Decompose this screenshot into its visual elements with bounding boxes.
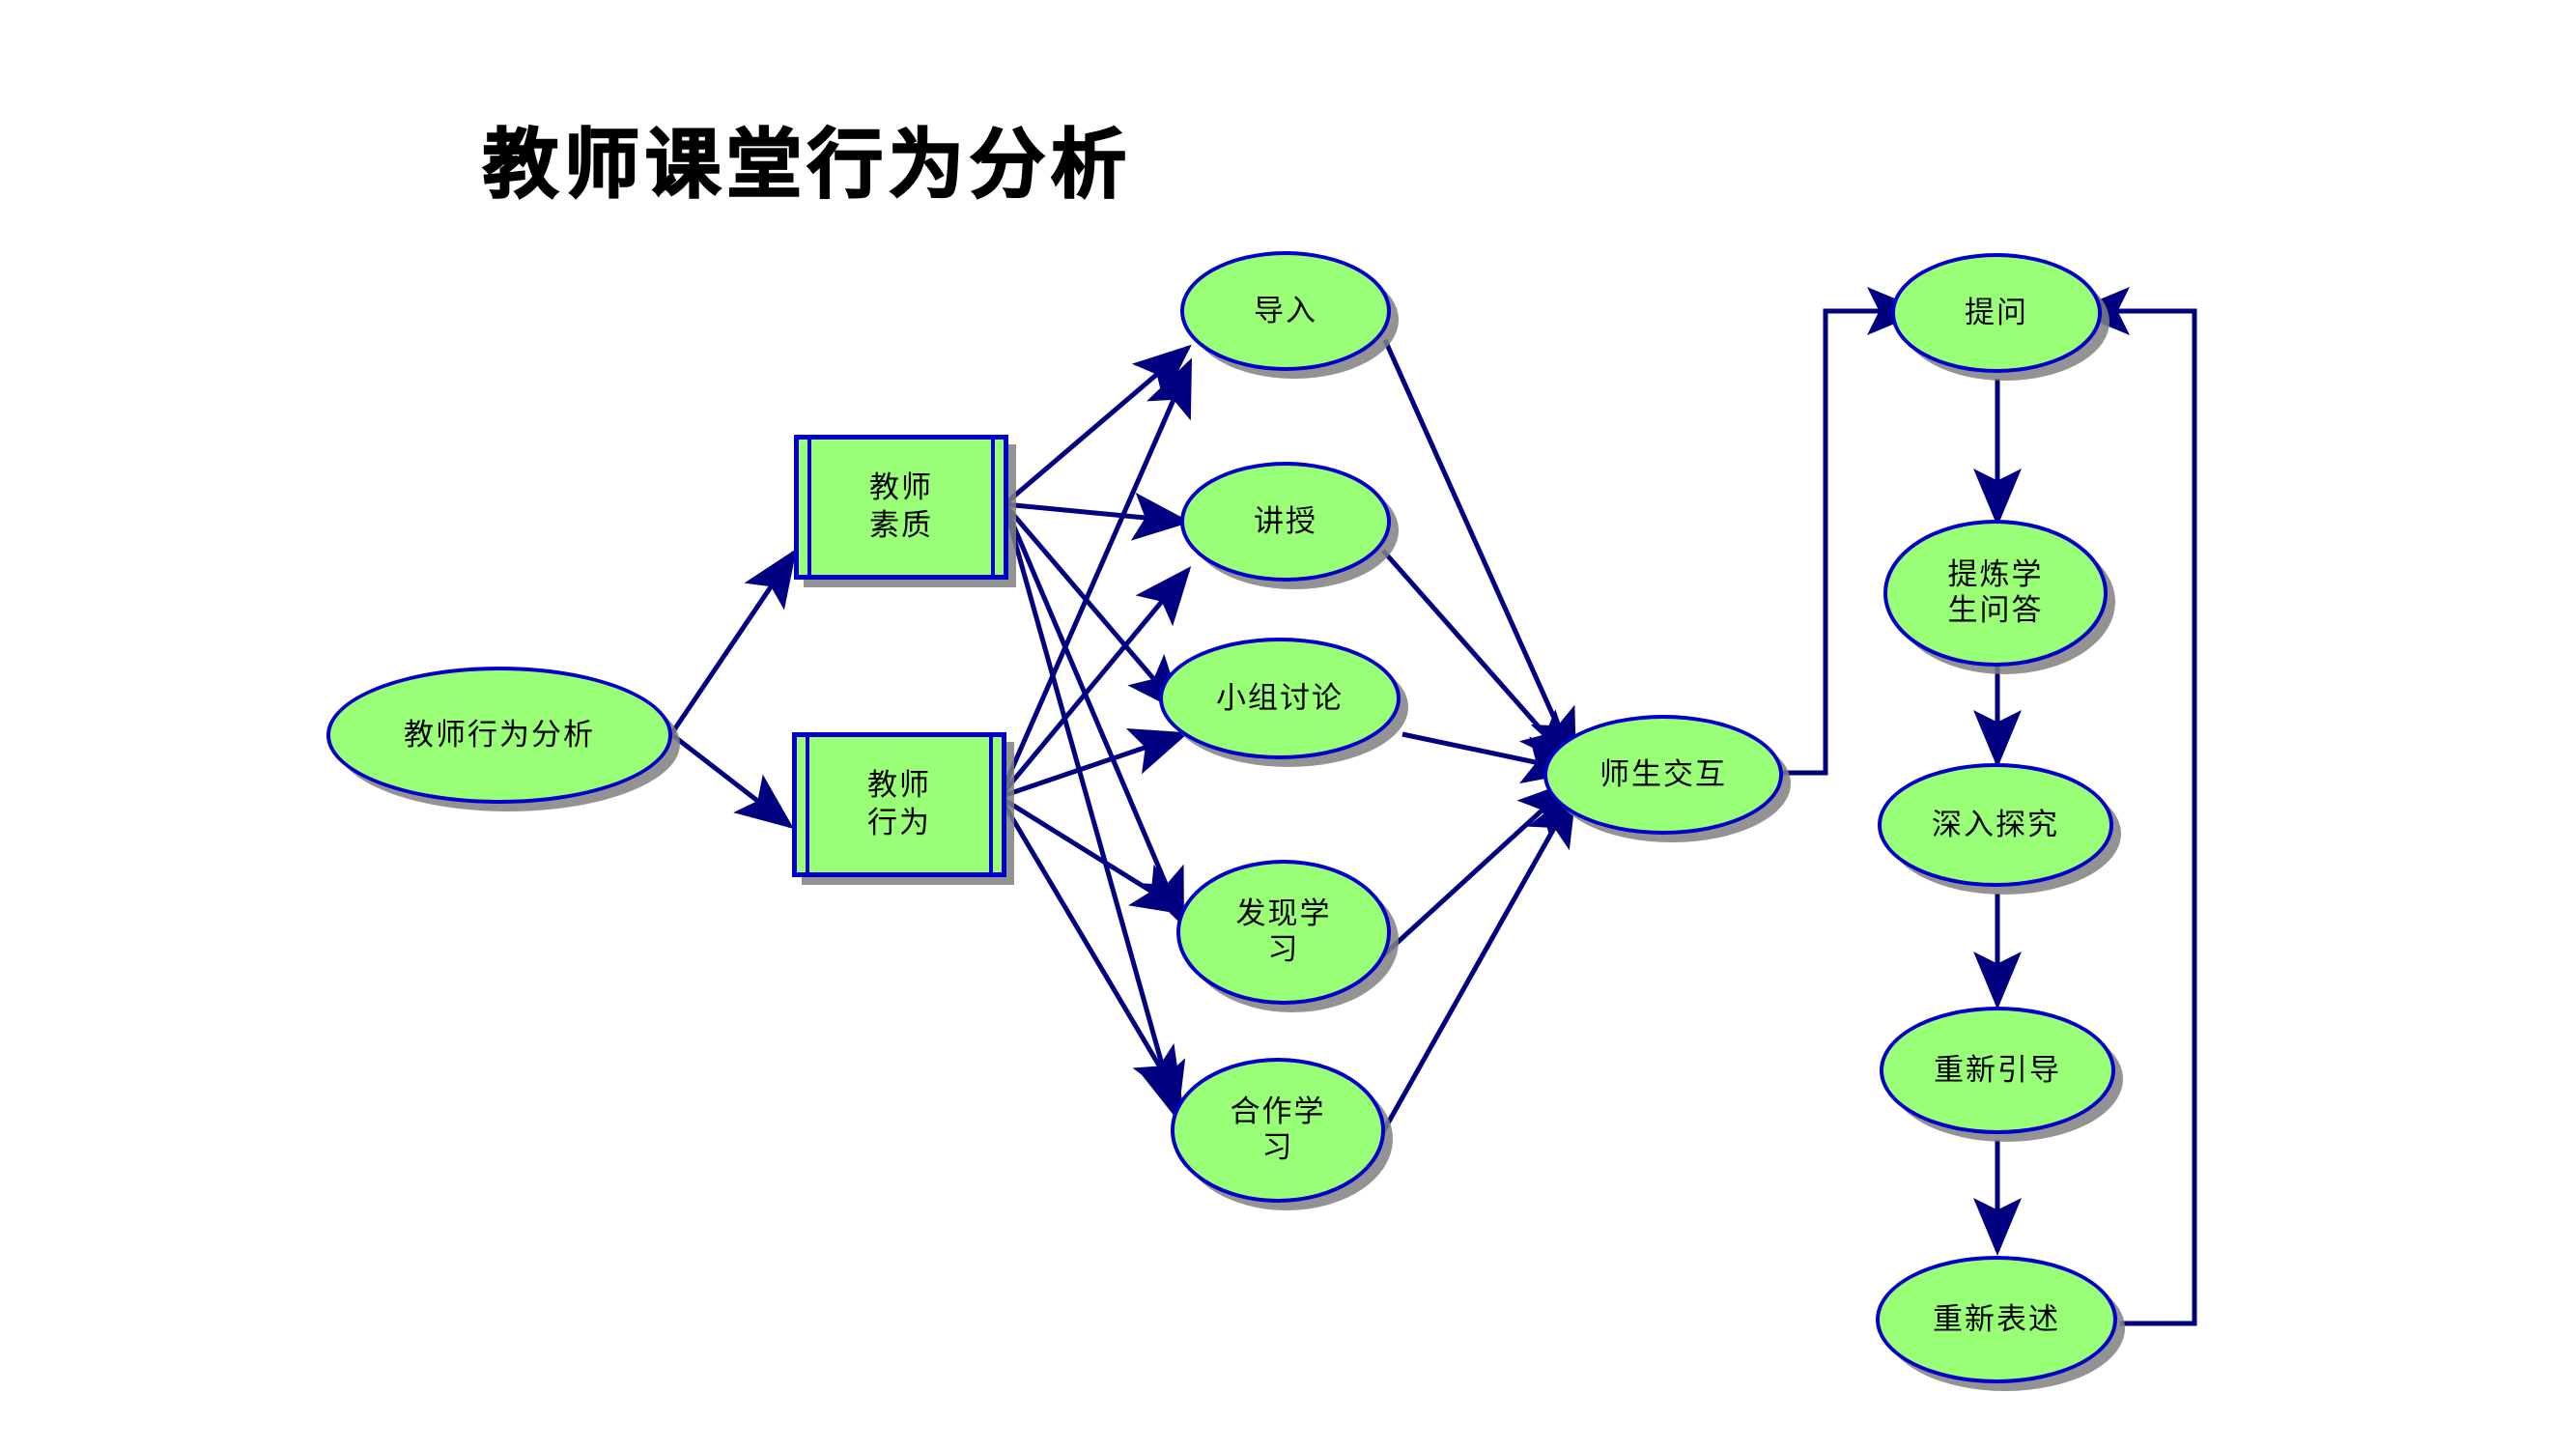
node-teacher-behavior-label: 教师 行为 — [797, 737, 1002, 872]
edge-intro-interaction — [1385, 340, 1574, 763]
node-cooperative-learning[interactable]: 合作学 习 — [1171, 1058, 1385, 1203]
node-refine-qa-label: 提炼学 生问答 — [1948, 557, 2044, 628]
node-group-discussion-label: 小组讨论 — [1216, 681, 1344, 717]
node-root-label: 教师行为分析 — [404, 718, 595, 753]
node-reguide-label: 重新引导 — [1934, 1053, 2061, 1089]
edge-root-behavior — [671, 734, 790, 826]
node-teacher-quality-label: 教师 素质 — [799, 440, 1004, 575]
node-intro-label: 导入 — [1254, 294, 1317, 329]
edge-lecture-interaction — [1383, 551, 1572, 765]
node-root[interactable]: 教师行为分析 — [326, 667, 672, 804]
diagram-canvas: 教师课堂行为分析 — [0, 0, 2576, 1450]
node-question-label: 提问 — [1965, 296, 2028, 331]
node-discovery-learning-label: 发现学 习 — [1236, 896, 1332, 967]
node-restate[interactable]: 重新表述 — [1876, 1256, 2117, 1383]
edge-behavior-cooperative — [1000, 797, 1180, 1101]
node-teacher-quality[interactable]: 教师 素质 — [794, 435, 1008, 580]
node-deepen-inquiry[interactable]: 深入探究 — [1878, 763, 2113, 887]
node-group-discussion[interactable]: 小组讨论 — [1159, 638, 1401, 759]
edge-interaction-question — [1775, 311, 1920, 773]
node-discovery-learning[interactable]: 发现学 习 — [1176, 860, 1391, 1005]
node-teacher-student-interaction[interactable]: 师生交互 — [1543, 715, 1783, 835]
edge-quality-cooperative — [1005, 504, 1176, 1116]
node-lecture[interactable]: 讲授 — [1180, 462, 1391, 582]
edge-quality-lecture — [1005, 504, 1186, 522]
node-refine-qa[interactable]: 提炼学 生问答 — [1883, 520, 2108, 667]
node-teacher-student-interaction-label: 师生交互 — [1599, 757, 1727, 793]
edge-quality-discovery — [1005, 504, 1182, 923]
edge-cooperative-interaction — [1368, 792, 1574, 1159]
edge-root-quality — [671, 553, 794, 734]
node-restate-label: 重新表述 — [1933, 1302, 2060, 1338]
node-cooperative-learning-label: 合作学 习 — [1231, 1095, 1326, 1165]
node-question[interactable]: 提问 — [1891, 253, 2102, 373]
node-reguide[interactable]: 重新引导 — [1880, 1007, 2115, 1134]
edge-discovery-interaction — [1372, 782, 1572, 966]
node-intro[interactable]: 导入 — [1180, 251, 1391, 371]
node-teacher-behavior[interactable]: 教师 行为 — [792, 732, 1006, 877]
node-lecture-label: 讲授 — [1254, 504, 1317, 540]
edge-quality-group — [1005, 504, 1180, 710]
node-deepen-inquiry-label: 深入探究 — [1932, 808, 2059, 843]
